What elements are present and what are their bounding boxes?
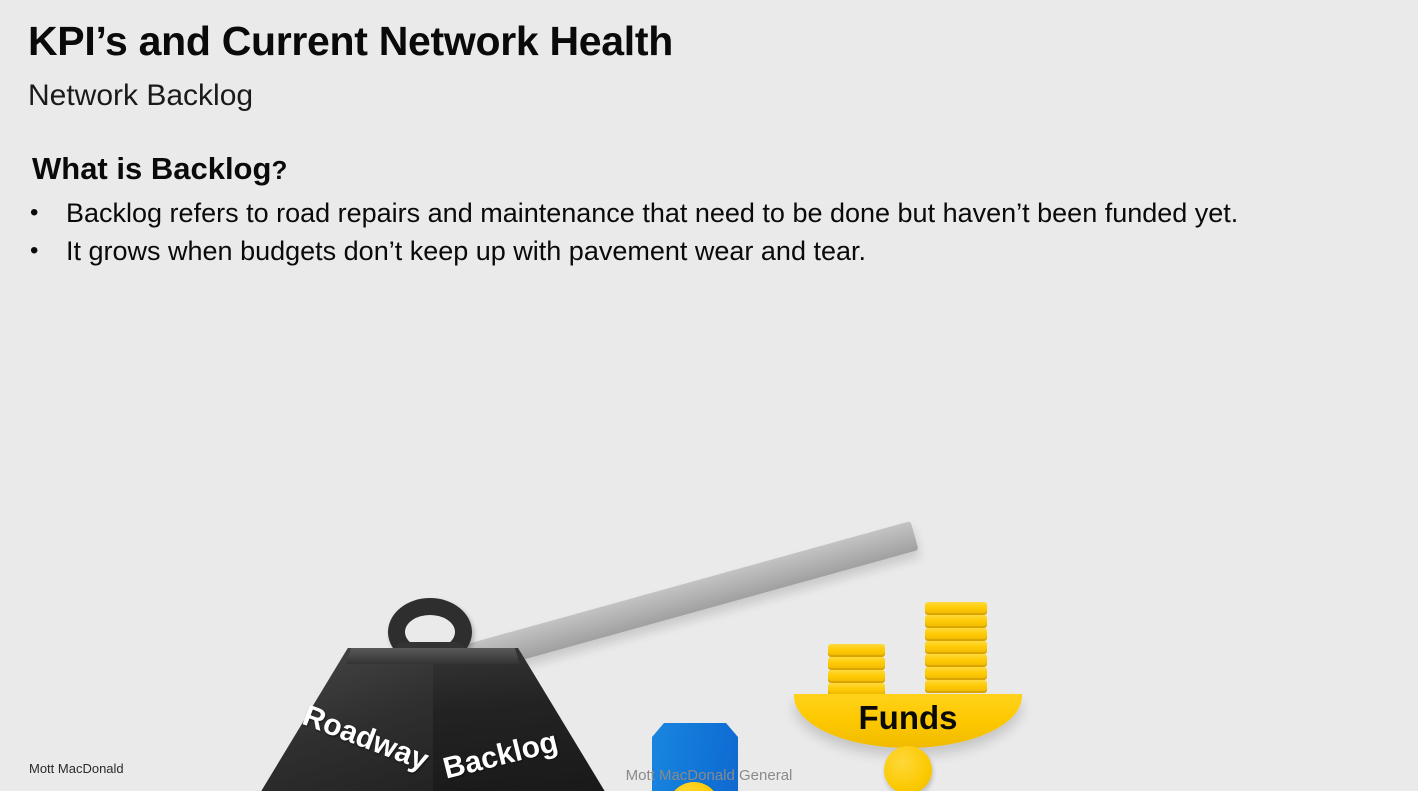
section-heading-question-mark: ? [271,155,287,185]
coin-icon [925,615,987,628]
page-title: KPI’s and Current Network Health [28,18,673,65]
bullet-list: • Backlog refers to road repairs and mai… [30,194,1405,270]
coin-icon [925,602,987,615]
bullet-marker-icon: • [30,232,66,270]
bullet-text: It grows when budgets don’t keep up with… [66,232,1405,270]
footer-center-label: Mott MacDonald General [0,767,1418,784]
coin-icon [828,657,885,670]
section-heading-text: What is Backlog [32,151,271,186]
coin-icon [925,680,987,693]
bullet-marker-icon: • [30,194,66,232]
coin-icon [925,654,987,667]
coin-icon [925,641,987,654]
coin-stack-left [828,644,885,696]
bullet-text: Backlog refers to road repairs and maint… [66,194,1405,232]
coin-icon [925,667,987,680]
scale-pan-funds-label: Funds [794,699,1022,737]
balance-scale-illustration: Funds Roadway Backlog Need [0,290,1418,790]
coin-icon [925,628,987,641]
list-item: • Backlog refers to road repairs and mai… [30,194,1405,232]
coin-stack-right [925,602,987,693]
page-subtitle: Network Backlog [28,79,253,113]
coin-icon [828,670,885,683]
coin-icon [828,644,885,657]
list-item: • It grows when budgets don’t keep up wi… [30,232,1405,270]
weight-top-bevel [346,648,520,664]
slide-canvas: KPI’s and Current Network Health Network… [0,0,1418,791]
section-heading: What is Backlog? [32,151,287,187]
weight-block: Roadway Backlog [248,590,618,791]
